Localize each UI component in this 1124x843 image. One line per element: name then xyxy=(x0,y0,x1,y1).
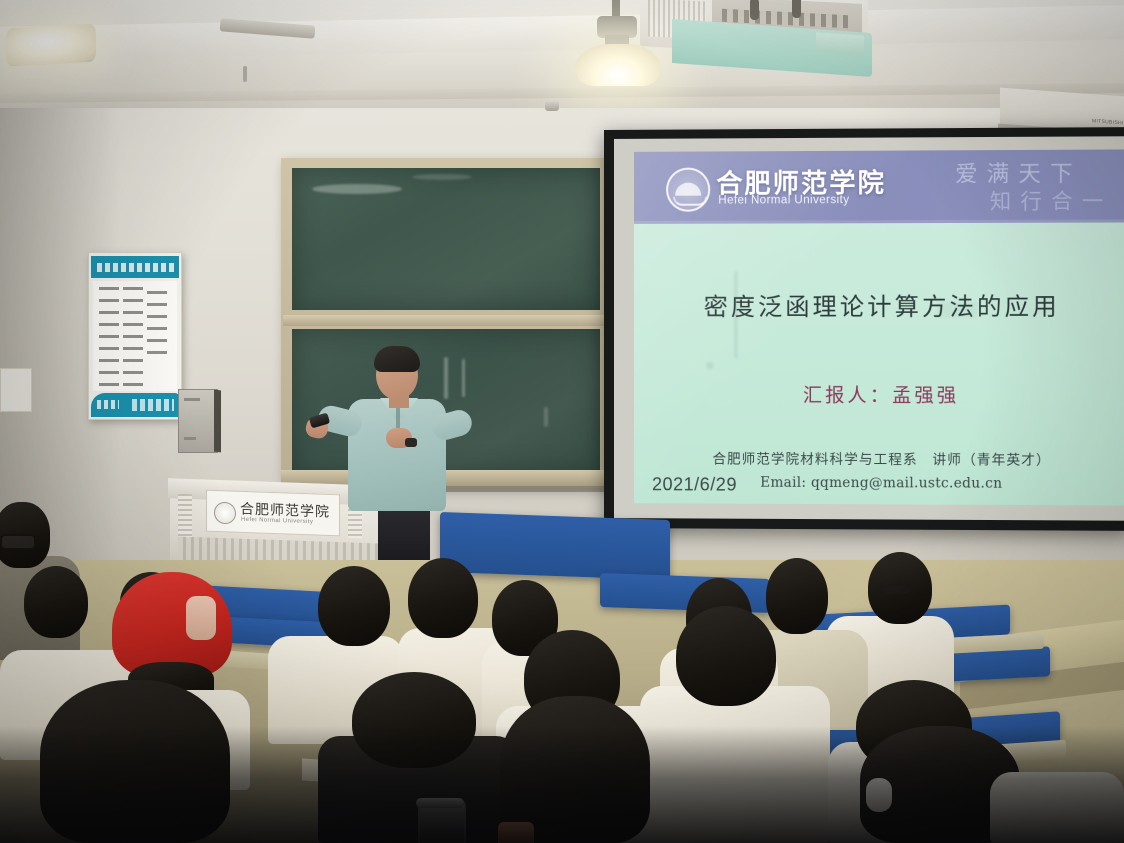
wall-plate xyxy=(0,368,32,412)
speaker-hair xyxy=(374,346,420,372)
student-white-tee-row2-body xyxy=(640,686,830,843)
poster-footer-band xyxy=(91,393,179,417)
slide-motto-line-1: 爱满天下 xyxy=(955,156,1082,189)
slide-title: 密度泛函理论计算方法的应用 xyxy=(634,286,1124,322)
slide-date: 2021/6/29 xyxy=(652,474,737,495)
eyeglasses-icon xyxy=(884,586,910,594)
slide-header-band: 合肥师范学院 Hefei Normal University 爱满天下 知行合一 xyxy=(634,149,1124,223)
poster-header-text xyxy=(97,263,175,272)
pendant-lamp-shade xyxy=(575,44,661,86)
slide-motto-line-2: 知行合一 xyxy=(990,185,1113,216)
projection-screen: 合肥师范学院 Hefei Normal University 爱满天下 知行合一… xyxy=(604,127,1124,531)
ceiling-projector-mount-knob xyxy=(750,0,759,20)
blackboard-upper-panel xyxy=(292,168,600,310)
wall-poster xyxy=(88,252,182,420)
ceiling-projector-lens xyxy=(816,32,864,55)
ceiling-hook xyxy=(243,66,247,82)
student-right-edge-body xyxy=(990,772,1124,843)
orange-capped-bottle[interactable] xyxy=(498,822,534,843)
podium-seal-icon xyxy=(214,502,236,525)
student-head-left-a xyxy=(24,566,88,638)
white-hair-clip xyxy=(866,778,892,812)
student-white-tee-left-head xyxy=(318,566,390,646)
student-dark-tee-head xyxy=(352,672,476,768)
projection-screen-mat: 合肥师范学院 Hefei Normal University 爱满天下 知行合一… xyxy=(614,136,1124,520)
university-seal-icon xyxy=(666,168,710,212)
student-white-tee-row2-head xyxy=(676,606,776,706)
slide-affiliation: 合肥师范学院材料科学与工程系 讲师（青年英才） xyxy=(634,447,1124,469)
podium-vent xyxy=(178,494,192,538)
student-ponytail-left-head xyxy=(40,680,230,843)
eyeglasses-icon xyxy=(0,534,36,550)
student-ponytail-center-head xyxy=(500,696,650,843)
blackboard-lower-panel xyxy=(292,329,600,473)
speaker-wristband xyxy=(405,438,417,447)
air-conditioner-brand-label: MITSUBISHI xyxy=(1092,118,1124,126)
speaker-legs xyxy=(378,505,430,567)
wall-control-box-door[interactable] xyxy=(214,390,221,453)
wall-control-box-slot xyxy=(184,398,200,401)
ceiling-motion-sensor xyxy=(545,100,559,111)
student-white-tee-mid-head xyxy=(408,558,478,638)
wall-control-box-slot xyxy=(184,437,196,440)
poster-header-band xyxy=(91,256,179,278)
slide-presenter: 汇报人：孟强强 xyxy=(634,380,1124,408)
student-beige-tee-head xyxy=(766,558,828,634)
vacuum-flask-rim xyxy=(416,798,464,808)
hat-ribbon xyxy=(186,596,216,640)
lecture-hall-photo: MITSUBISHI xyxy=(0,0,1124,843)
poster-body xyxy=(93,281,177,391)
presentation-slide: 合肥师范学院 Hefei Normal University 爱满天下 知行合一… xyxy=(634,149,1124,505)
ceiling-projector-mount-knob xyxy=(792,0,801,18)
seat-back xyxy=(440,512,670,580)
blackboard-divider xyxy=(283,315,608,326)
ceiling-panel-light xyxy=(6,24,96,67)
university-name-en: Hefei Normal University xyxy=(718,194,849,207)
